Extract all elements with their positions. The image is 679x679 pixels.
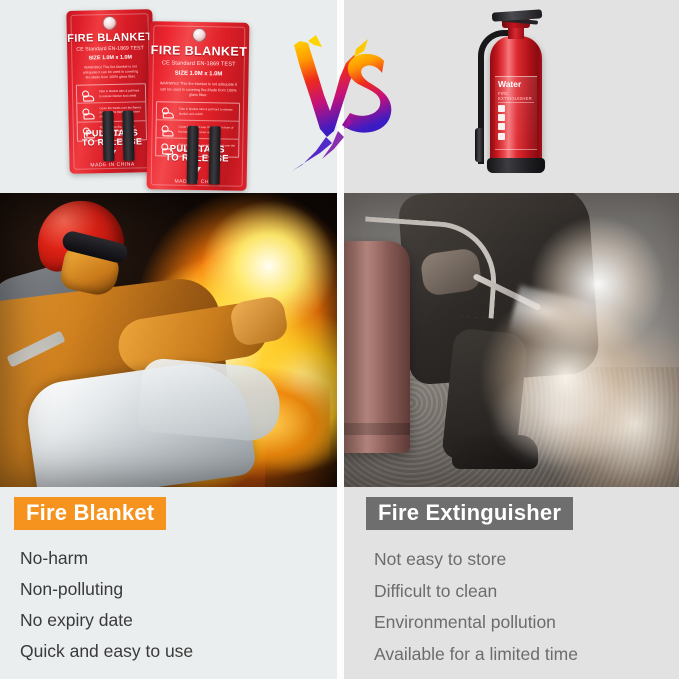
hand-cover-icon (80, 106, 96, 118)
fire-blanket-usage-photo (0, 193, 337, 487)
fire-extinguisher-drawbacks-list: Not easy to store Difficult to clean Env… (374, 544, 578, 670)
pictogram-icon (498, 114, 505, 121)
packet-warning: WARNING! This fire blanket is not adequa… (76, 64, 144, 81)
extinguisher-neck (508, 27, 524, 39)
list-item: Environmental pollution (374, 607, 578, 639)
hand-pull-icon (160, 105, 176, 117)
comparison-band: Fire Blanket No-harm Non-polluting No ex… (0, 487, 679, 679)
list-item: Available for a limited time (374, 639, 578, 671)
pictogram-icon (498, 123, 505, 130)
list-item: Quick and easy to use (20, 636, 193, 667)
extinguisher-base (487, 158, 545, 173)
photo-divider (337, 193, 344, 487)
comparison-divider (337, 487, 344, 679)
pictogram-icon (498, 133, 505, 140)
fire-extinguisher-product: Water FIRE EXTINGUISHER (470, 8, 560, 188)
fire-extinguisher-usage-photo (344, 193, 679, 487)
fire-blanket-heading-badge: Fire Blanket (14, 497, 166, 530)
fire-blanket-packet-1: FIRE BLANKET CE Standard EN-1869 TEST SI… (66, 9, 155, 174)
fire-blanket-packet-2: FIRE BLANKET CE Standard EN-1869 TEST SI… (147, 21, 250, 191)
list-item: Non-polluting (20, 574, 193, 605)
label-row (498, 133, 537, 140)
pull-tab-left (102, 111, 114, 161)
hand-pull-icon (80, 88, 96, 100)
hand-cover-icon (159, 123, 175, 135)
instruction-row: Take in blanket tabs & pull hard to rele… (157, 102, 239, 121)
product-comparison-infographic: FIRE BLANKET CE Standard EN-1869 TEST SI… (0, 0, 679, 679)
fire-blanket-benefits-list: No-harm Non-polluting No expiry date Qui… (20, 543, 193, 667)
packet-title: FIRE BLANKET (67, 31, 153, 45)
label-row (498, 105, 537, 112)
packet-title: FIRE BLANKET (149, 43, 249, 59)
instruction-text: Take in blanket tabs & pull hard to rele… (179, 107, 236, 117)
extinguisher-label-subtitle: FIRE EXTINGUISHER (498, 91, 534, 104)
list-item: No expiry date (20, 605, 193, 636)
list-item: Not easy to store (374, 544, 578, 576)
versus-graphic (286, 33, 394, 173)
extinguisher-label-rows (498, 105, 537, 140)
list-item: Difficult to clean (374, 576, 578, 608)
extinguisher-label: Water FIRE EXTINGUISHER (495, 76, 537, 150)
instruction-row: Take in blanket tabs & pull hard to rele… (77, 84, 145, 103)
packet-warning: WARNING! This fire blanket is not adequa… (157, 81, 239, 99)
pull-tab-right (122, 111, 134, 161)
label-row (498, 114, 537, 121)
photo-band (0, 193, 679, 487)
top-product-band: FIRE BLANKET CE Standard EN-1869 TEST SI… (0, 0, 679, 193)
pictogram-icon (498, 105, 505, 112)
instruction-text: Take in blanket tabs & pull hard to rele… (99, 88, 142, 98)
label-row (498, 123, 537, 130)
versus-icon (286, 33, 394, 173)
pull-tab-left (187, 126, 199, 184)
fire-extinguisher-heading-badge: Fire Extinguisher (366, 497, 573, 530)
extinguisher-label-title: Water (498, 80, 537, 89)
list-item: No-harm (20, 543, 193, 574)
pull-tab-right (209, 126, 221, 184)
extinguisher-nozzle (475, 128, 484, 162)
